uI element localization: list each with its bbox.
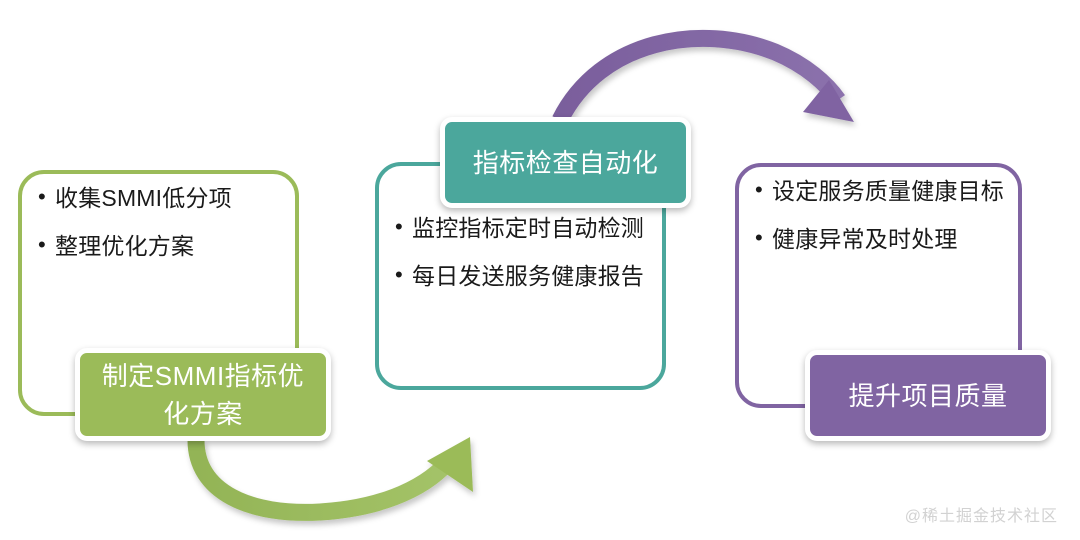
- stage-3-label-text: 提升项目质量: [848, 377, 1007, 415]
- stage-3-bullet-list: 设定服务质量健康目标 健康异常及时处理: [755, 177, 1012, 273]
- list-item: 健康异常及时处理: [755, 225, 1012, 253]
- stage-1-bullet-list: 收集SMMI低分项 整理优化方案: [38, 184, 289, 280]
- list-item: 每日发送服务健康报告: [395, 262, 656, 290]
- watermark-text: @稀土掘金技术社区: [905, 502, 1058, 526]
- stage-2-label-text: 指标检查自动化: [473, 144, 659, 182]
- diagram-canvas: 收集SMMI低分项 整理优化方案 制定SMMI指标优化方案 监控指标定时自动检测…: [0, 0, 1080, 540]
- list-item: 收集SMMI低分项: [38, 184, 289, 212]
- stage-2-label-chip[interactable]: 指标检查自动化: [440, 117, 691, 208]
- stage-3-label-chip[interactable]: 提升项目质量: [805, 350, 1051, 441]
- stage-1-label-chip[interactable]: 制定SMMI指标优化方案: [75, 348, 331, 441]
- connector-purple-arrow: [560, 38, 854, 122]
- list-item: 监控指标定时自动检测: [395, 214, 656, 242]
- stage-1-label-text: 制定SMMI指标优化方案: [94, 357, 312, 433]
- list-item: 整理优化方案: [38, 232, 289, 260]
- connector-green-arrow: [196, 437, 473, 512]
- stage-2-bullet-list: 监控指标定时自动检测 每日发送服务健康报告: [395, 214, 656, 310]
- list-item: 设定服务质量健康目标: [755, 177, 1012, 205]
